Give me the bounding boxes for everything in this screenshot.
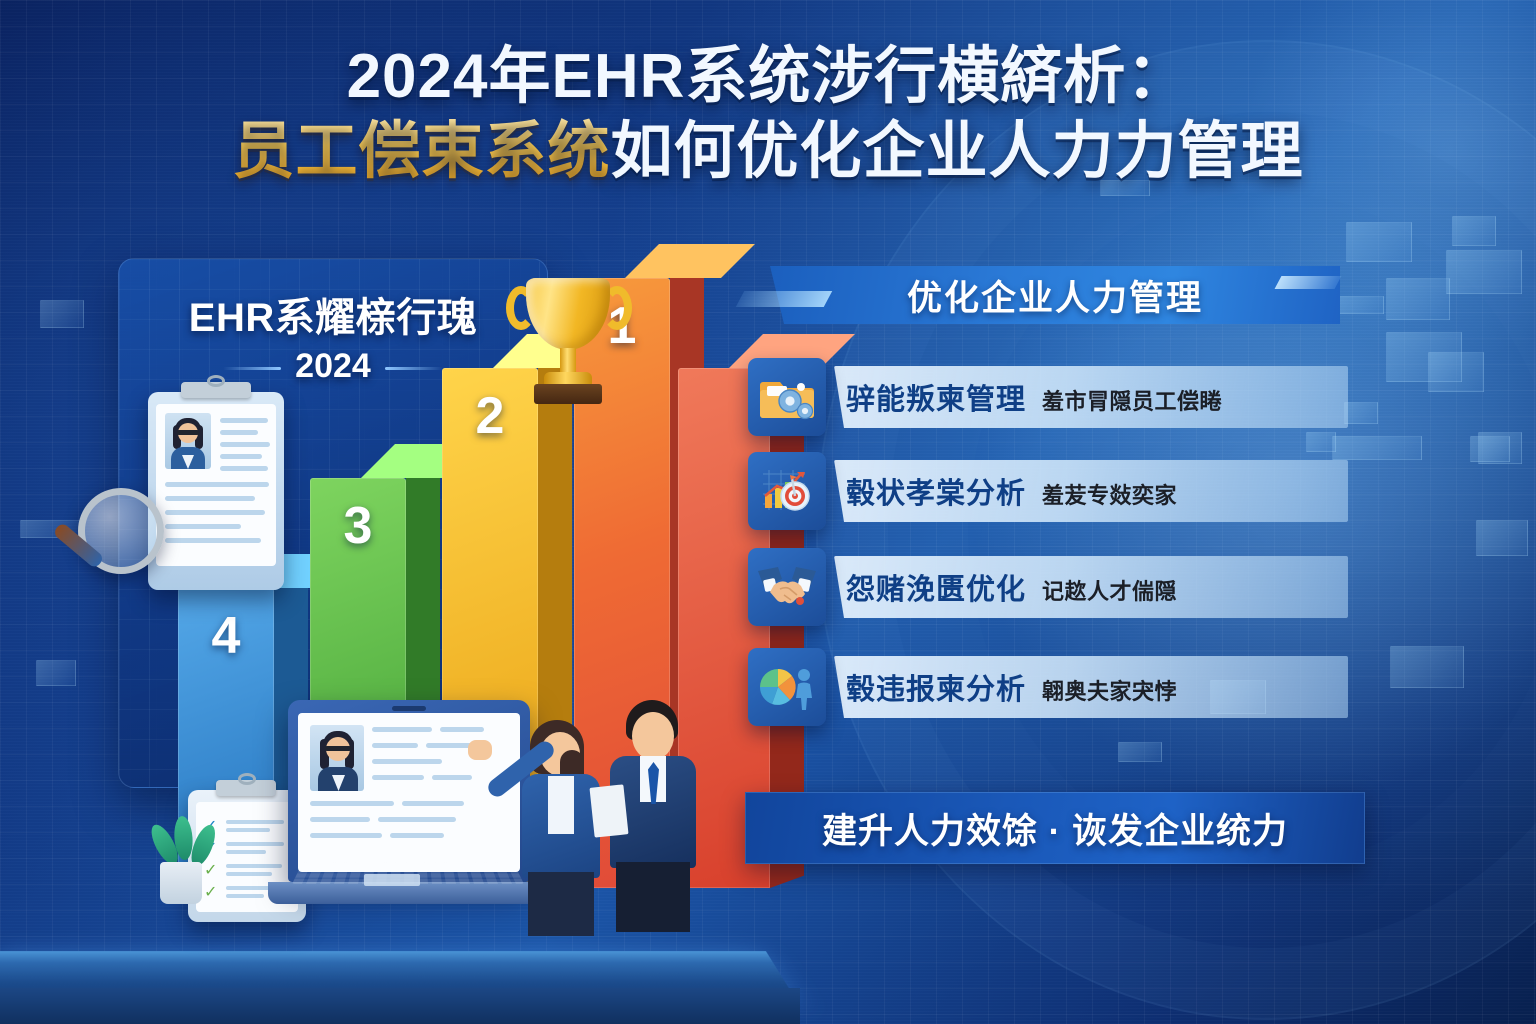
desk-front <box>0 988 800 1024</box>
feature-row-2[interactable]: 毂状孝棠分析 羞苃专敥奕家 <box>748 452 1348 530</box>
feature-text-2: 毂状孝棠分析 羞苃专敥奕家 <box>846 470 1177 512</box>
laptop-base <box>268 882 550 904</box>
feature-row-4[interactable]: 毂违报柬分析 翶奥夫家宊悖 <box>748 648 1348 726</box>
feature-text-1: 骍能叛柬管理 羞市冐隠员工偿睠 <box>846 376 1222 418</box>
feature-title-1: 骍能叛柬管理 <box>846 376 1026 418</box>
feature-subtitle-4: 翶奥夫家宊悖 <box>1042 674 1177 706</box>
resume-photo <box>165 413 211 469</box>
screen-avatar <box>310 725 364 791</box>
chart-target-icon <box>748 452 826 530</box>
folder-gears-icon <box>748 358 826 436</box>
feature-row-1[interactable]: 骍能叛柬管理 羞市冐隠员工偿睠 <box>748 358 1348 436</box>
title-line-2: 员工偿束系统如何优化企业人力力管理 <box>0 117 1536 186</box>
pie-person-icon <box>748 648 826 726</box>
bar-label-4: 4 <box>178 606 274 666</box>
title-highlight: 员工偿束系统 <box>232 117 610 186</box>
feature-title-3: 怨赌浼匮优化 <box>846 566 1026 608</box>
male-manager-figure <box>608 700 718 920</box>
clipboard-ring <box>207 375 225 387</box>
gold-trophy-icon <box>504 278 634 408</box>
infographic-poster: 2024年EHR系统涉行横緕析： 员工偿束系统如何优化企业人力力管理 EHR系耀… <box>0 0 1536 1024</box>
feature-text-3: 怨赌浼匮优化 记趑人才偳隠 <box>846 566 1177 608</box>
employee-resume-clipboard-icon <box>148 392 284 590</box>
title-line-1: 2024年EHR系统涉行横緕析： <box>0 44 1536 111</box>
features-header-label: 优化企业人力管理 <box>907 270 1203 321</box>
handshake-icon <box>748 548 826 626</box>
trophy-cup <box>526 278 610 350</box>
laptop-employee-profile-icon <box>288 700 550 904</box>
feature-title-2: 毂状孝棠分析 <box>846 470 1026 512</box>
poster-title: 2024年EHR系统涉行横緕析： 员工偿束系统如何优化企业人力力管理 <box>0 44 1536 186</box>
laptop-screen <box>298 713 520 872</box>
features-header: 优化企业人力管理 <box>770 266 1340 324</box>
plant-pot <box>160 862 202 904</box>
background-arc <box>816 40 1536 1020</box>
bottom-slogan-text: 建升人力效馀 · 诙发企业统力 <box>822 803 1288 854</box>
laptop-trackpad <box>364 874 420 886</box>
header-accent-left <box>736 291 833 307</box>
feature-subtitle-3: 记趑人才偳隠 <box>1042 574 1177 606</box>
feature-title-4: 毂违报柬分析 <box>846 666 1026 708</box>
magnifier-icon <box>78 488 164 574</box>
title-rest: 如何优化企业人力力管理 <box>611 117 1304 186</box>
bottom-slogan-banner: 建升人力效馀 · 诙发企业统力 <box>745 792 1365 864</box>
laptop-camera <box>392 706 426 711</box>
feature-text-4: 毂违报柬分析 翶奥夫家宊悖 <box>846 666 1177 708</box>
trophy-stem <box>560 348 576 374</box>
feature-subtitle-2: 羞苃专敥奕家 <box>1042 478 1177 510</box>
trophy-base <box>534 384 602 404</box>
resume-sheet <box>156 404 276 566</box>
feature-row-3[interactable]: 怨赌浼匮优化 记趑人才偳隠 <box>748 548 1348 626</box>
header-accent-right <box>1275 276 1342 289</box>
bar-label-3: 3 <box>310 496 406 556</box>
feature-subtitle-1: 羞市冐隠员工偿睠 <box>1042 384 1222 416</box>
